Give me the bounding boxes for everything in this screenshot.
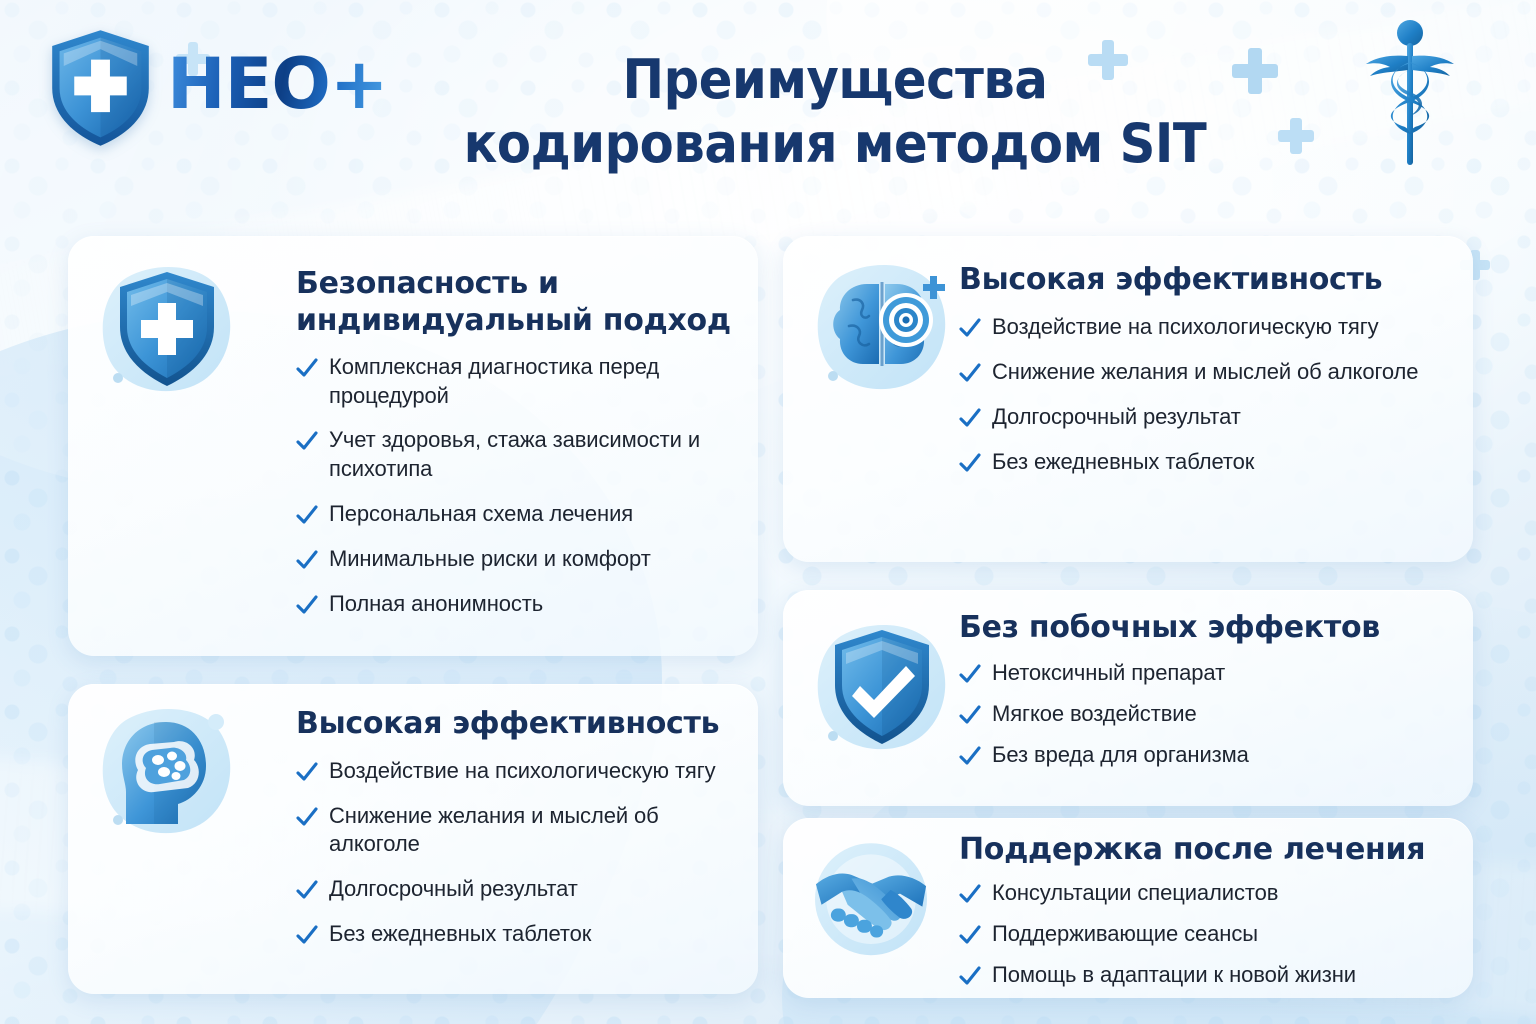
benefit-card: Без побочных эффектов Нетоксичный препар… (783, 590, 1473, 806)
benefit-list-item: Воздействие на психологическую тягу (296, 757, 736, 786)
benefit-list-item: Снижение желания и мыслей об алкоголе (959, 358, 1455, 387)
brand-name: НЕО+ (167, 49, 388, 119)
benefit-list-item-label: Без вреда для организма (992, 741, 1249, 770)
benefit-card-inner: Высокая эффективность Воздействие на пси… (783, 236, 1473, 562)
check-icon (296, 356, 318, 382)
page-title: Преимущества кодирования методом SIT (420, 48, 1250, 175)
benefit-list-item-label: Мягкое воздействие (992, 700, 1197, 729)
benefit-list-item: Полная анонимность (296, 590, 736, 619)
check-icon (296, 548, 318, 574)
benefit-list-item: Персональная схема лечения (296, 500, 736, 529)
check-icon (959, 316, 981, 342)
benefit-list: Нетоксичный препарат Мягкое воздействие … (959, 659, 1455, 770)
check-icon (959, 964, 981, 990)
benefit-list: Воздействие на психологическую тягу Сниж… (296, 757, 736, 949)
benefit-card-title: Безопасность и индивидуальный подход (296, 266, 736, 339)
benefit-list-item-label: Воздействие на психологическую тягу (329, 757, 716, 786)
check-icon (296, 923, 318, 949)
benefit-card-title: Поддержка после лечения (959, 832, 1455, 869)
check-icon (959, 406, 981, 432)
benefit-list-item: Комплексная диагностика перед процедурой (296, 353, 736, 410)
page-title-line-1: Преимущества (453, 48, 1217, 112)
benefit-card-icon (807, 614, 957, 764)
benefit-card-title: Без побочных эффектов (959, 610, 1455, 647)
benefit-list-item-label: Консультации специалистов (992, 879, 1278, 908)
benefit-card-inner: Поддержка после лечения Консультации спе… (783, 818, 1473, 998)
check-icon (296, 593, 318, 619)
caduceus-icon (1364, 18, 1456, 170)
benefit-card: Высокая эффективность Воздействие на пси… (783, 236, 1473, 562)
check-icon (296, 503, 318, 529)
benefit-list: Комплексная диагностика перед процедурой… (296, 353, 736, 618)
check-icon (296, 760, 318, 786)
benefit-card-body: Поддержка после лечения Консультации спе… (959, 832, 1455, 998)
benefit-card-icon (807, 254, 957, 404)
benefit-list-item: Нетоксичный препарат (959, 659, 1455, 688)
benefit-list-item: Мягкое воздействие (959, 700, 1455, 729)
benefit-card: Безопасность и индивидуальный подход Ком… (68, 236, 758, 656)
benefit-list: Воздействие на психологическую тягу Сниж… (959, 313, 1455, 477)
benefit-list-item-label: Воздействие на психологическую тягу (992, 313, 1379, 342)
benefit-list-item-label: Поддерживающие сеансы (992, 920, 1258, 949)
benefit-list-item: Без вреда для организма (959, 741, 1455, 770)
check-icon (959, 882, 981, 908)
benefit-card-icon (92, 698, 242, 848)
benefit-list-item: Без ежедневных таблеток (296, 920, 736, 949)
brain-target-icon (807, 254, 957, 404)
handshake-icon (801, 832, 941, 972)
benefit-list-item: Поддерживающие сеансы (959, 920, 1455, 949)
benefit-list-item: Без ежедневных таблеток (959, 448, 1455, 477)
benefit-list-item: Долгосрочный результат (959, 403, 1455, 432)
check-icon (959, 703, 981, 729)
brand-logo: НЕО+ (48, 28, 388, 148)
check-icon (959, 662, 981, 688)
shield-check-icon (807, 614, 957, 764)
benefit-list-item-label: Нетоксичный препарат (992, 659, 1225, 688)
check-icon (296, 805, 318, 831)
page-header: НЕО+ Преимущества кодирования методом SI… (0, 0, 1536, 215)
benefit-list-item: Долгосрочный результат (296, 875, 736, 904)
benefit-list-item-label: Учет здоровья, стажа зависимости и психо… (329, 426, 736, 483)
benefit-list-item: Снижение желания и мыслей об алкоголе (296, 802, 736, 859)
benefit-card-icon (92, 256, 242, 406)
benefit-card-inner: Безопасность и индивидуальный подход Ком… (68, 236, 758, 656)
benefit-card: Поддержка после лечения Консультации спе… (783, 818, 1473, 998)
benefit-list: Консультации специалистов Поддерживающие… (959, 879, 1455, 990)
benefit-card-body: Без побочных эффектов Нетоксичный препар… (959, 610, 1455, 782)
benefit-list-item-label: Снижение желания и мыслей об алкоголе (992, 358, 1418, 387)
benefit-list-item: Воздействие на психологическую тягу (959, 313, 1455, 342)
benefit-list-item-label: Снижение желания и мыслей об алкоголе (329, 802, 736, 859)
benefit-card-title: Высокая эффективность (296, 706, 736, 743)
benefit-list-item-label: Долгосрочный результат (992, 403, 1241, 432)
check-icon (959, 923, 981, 949)
benefit-list-item-label: Минимальные риски и комфорт (329, 545, 651, 574)
check-icon (296, 429, 318, 455)
benefit-list-item-label: Без ежедневных таблеток (329, 920, 591, 949)
benefit-list-item-label: Комплексная диагностика перед процедурой (329, 353, 736, 410)
benefit-card-body: Безопасность и индивидуальный подход Ком… (296, 266, 736, 619)
benefit-card-body: Высокая эффективность Воздействие на пси… (296, 706, 736, 949)
benefit-card-inner: Без побочных эффектов Нетоксичный препар… (783, 590, 1473, 806)
benefit-list-item: Минимальные риски и комфорт (296, 545, 736, 574)
check-icon (959, 361, 981, 387)
benefit-card-title: Высокая эффективность (959, 262, 1455, 299)
benefit-card: Высокая эффективность Воздействие на пси… (68, 684, 758, 994)
check-icon (959, 451, 981, 477)
shield-cross-icon (92, 256, 242, 406)
benefit-list-item: Учет здоровья, стажа зависимости и психо… (296, 426, 736, 483)
benefit-list-item-label: Долгосрочный результат (329, 875, 578, 904)
benefit-list-item: Консультации специалистов (959, 879, 1455, 908)
check-icon (959, 744, 981, 770)
benefit-card-body: Высокая эффективность Воздействие на пси… (959, 262, 1455, 477)
shield-cross-icon (48, 28, 153, 148)
benefit-list-item-label: Без ежедневных таблеток (992, 448, 1254, 477)
benefit-list-item-label: Полная анонимность (329, 590, 543, 619)
check-icon (296, 878, 318, 904)
benefit-list-item-label: Персональная схема лечения (329, 500, 633, 529)
benefit-card-inner: Высокая эффективность Воздействие на пси… (68, 684, 758, 994)
head-brain-icon (92, 698, 242, 848)
benefit-list-item-label: Помощь в адаптации к новой жизни (992, 961, 1356, 990)
page-title-line-2: кодирования методом SIT (453, 112, 1217, 176)
benefit-list-item: Помощь в адаптации к новой жизни (959, 961, 1455, 990)
benefit-card-icon (801, 832, 941, 972)
